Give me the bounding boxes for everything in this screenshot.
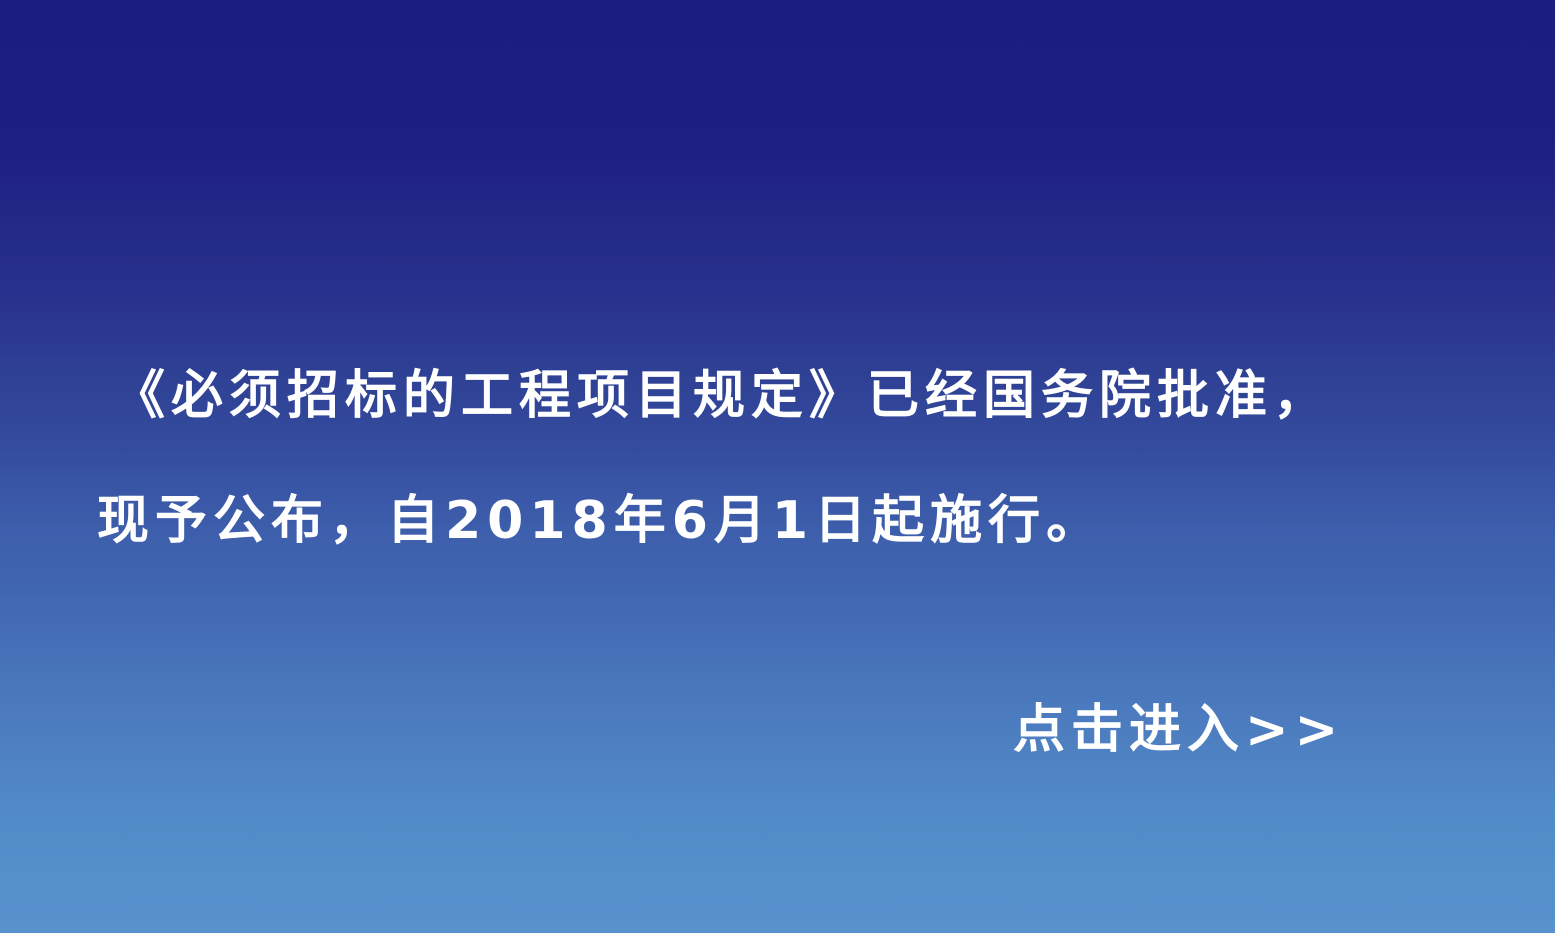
announcement-line-2: 现予公布，自2018年6月1日起施行。 [0,459,1555,584]
announcement-line-1: 《必须招标的工程项目规定》已经国务院批准， [0,334,1555,459]
announcement-text: 《必须招标的工程项目规定》已经国务院批准， 现予公布，自2018年6月1日起施行… [0,334,1555,584]
announcement-banner: 《必须招标的工程项目规定》已经国务院批准， 现予公布，自2018年6月1日起施行… [0,0,1555,933]
click-to-enter-link[interactable]: 点击进入>> [1013,694,1344,766]
